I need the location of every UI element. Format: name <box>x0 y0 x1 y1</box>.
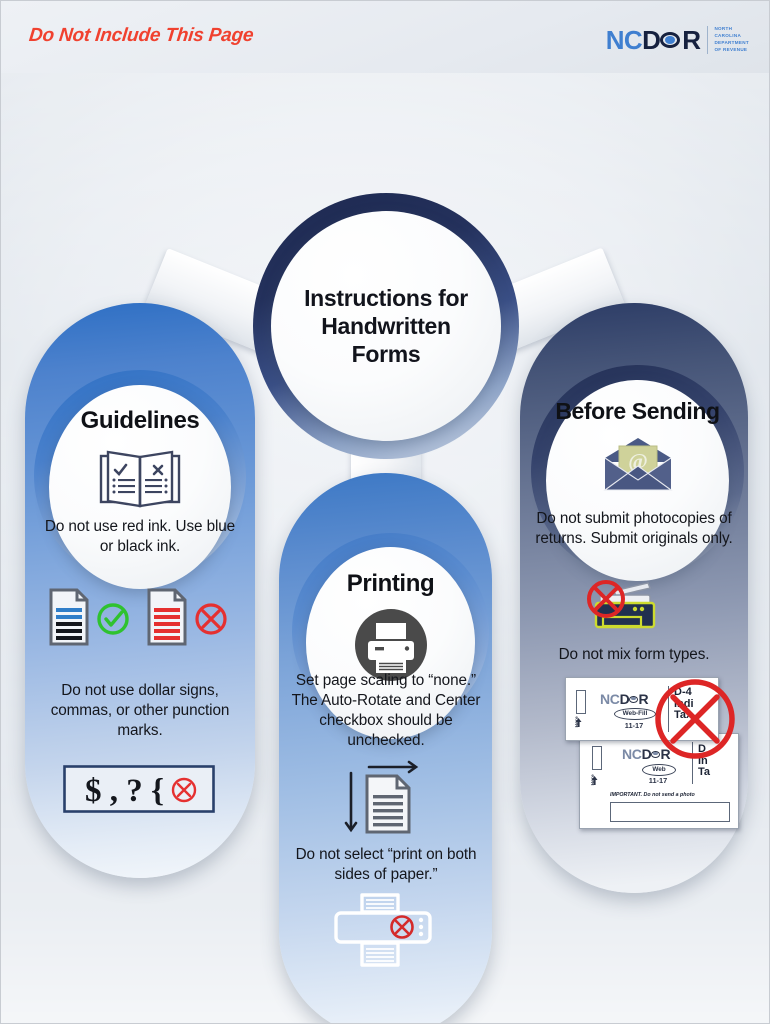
printing-text-1: Set page scaling to “none.” The Auto-Rot… <box>287 671 485 751</box>
before-sending-text-2: Do not mix form types. <box>525 645 743 665</box>
no-duplex-printer-icon <box>329 891 451 969</box>
open-book-icon <box>97 446 183 517</box>
before-sending-head-inner: Before Sending @ <box>546 380 729 581</box>
guidelines-text-1: Do not use red ink. Use blue or black in… <box>37 517 243 557</box>
envelope-at-icon: @ <box>599 436 677 499</box>
red-ink-doc <box>149 590 185 644</box>
no-copier-icon <box>576 577 686 639</box>
form-front-webfill-label: Web-Fill <box>614 708 656 720</box>
logo-sub-line-4: OF REVENUE <box>714 47 749 54</box>
form-back-here-arrow <box>591 772 598 780</box>
do-not-include-warning: Do Not Include This Page <box>28 25 255 47</box>
form-front-date: 11-17 <box>614 721 654 730</box>
form-back-d: D <box>642 746 652 762</box>
before-sending-text-1: Do not submit photocopies of returns. Su… <box>525 509 743 549</box>
punctuation-marks-box: $ , ? { <box>63 765 215 813</box>
form-front-r: R <box>638 691 648 707</box>
infographic-canvas: Guidelines <box>1 73 770 1024</box>
form-back-nc: NC <box>622 746 642 762</box>
red-cross-forms-icon <box>653 677 737 766</box>
form-front-here-arrow <box>575 714 582 722</box>
logo-sub-line-2: CAROLINA <box>714 33 749 40</box>
form-back-right-line3: Ta <box>698 767 710 779</box>
ink-color-icons <box>45 586 235 648</box>
green-check-icon <box>99 605 127 633</box>
form-front-d: D <box>620 691 630 707</box>
before-sending-title: Before Sending <box>555 398 719 424</box>
logo-sub-line-1: NORTH <box>714 26 749 33</box>
logo-divider <box>707 26 708 54</box>
logo-r-text: R <box>682 27 700 53</box>
form-back-left-bar <box>592 746 602 770</box>
logo-sub-line-3: DEPARTMENT <box>714 40 749 47</box>
logo-d-text: D <box>642 27 660 53</box>
guidelines-head-inner: Guidelines <box>49 385 231 589</box>
blue-black-ink-doc <box>51 590 87 644</box>
logo-nc-text: NC <box>606 27 642 53</box>
punctuation-sample-text: $ , ? { <box>85 773 164 809</box>
guidelines-title: Guidelines <box>81 407 200 434</box>
form-front-o-icon <box>629 694 638 705</box>
form-back-important-note: IMPORTANT. Do not send a photo <box>610 792 695 798</box>
red-cross-printer-icon <box>392 917 413 938</box>
infographic-page: Do Not Include This Page NC D R NORTH CA… <box>0 0 770 1024</box>
printing-text-2: Do not select “print on both sides of pa… <box>295 845 477 885</box>
page-header: Do Not Include This Page NC D R NORTH CA… <box>1 1 770 73</box>
ncdor-logo-wordmark: NC D R <box>606 27 701 53</box>
form-front-ncdor-logo: NCDR <box>600 691 648 707</box>
form-back-date: 11-17 <box>640 776 676 785</box>
red-cross-icon <box>197 605 225 633</box>
hub-title: Instructions for Handwritten Forms <box>271 284 501 368</box>
form-back-entry-box <box>610 802 730 822</box>
hub-inner: Instructions for Handwritten Forms <box>271 211 501 441</box>
copier-glyph <box>596 583 654 627</box>
form-front-left-bar <box>576 690 586 714</box>
single-sided-page-icon <box>331 759 443 839</box>
ncdor-logo: NC D R NORTH CAROLINA DEPARTMENT OF REVE… <box>606 23 749 57</box>
hub-circle: Instructions for Handwritten Forms <box>253 193 519 459</box>
logo-subtitle: NORTH CAROLINA DEPARTMENT OF REVENUE <box>714 26 749 54</box>
logo-o-icon <box>660 27 682 53</box>
printing-title: Printing <box>347 570 434 597</box>
form-mockup-stack: Here NCDR Web 11-17 D In Ta IMPORTANT. D… <box>561 669 751 835</box>
guidelines-text-2: Do not use dollar signs, commas, or othe… <box>33 681 247 741</box>
form-front-nc: NC <box>600 691 620 707</box>
